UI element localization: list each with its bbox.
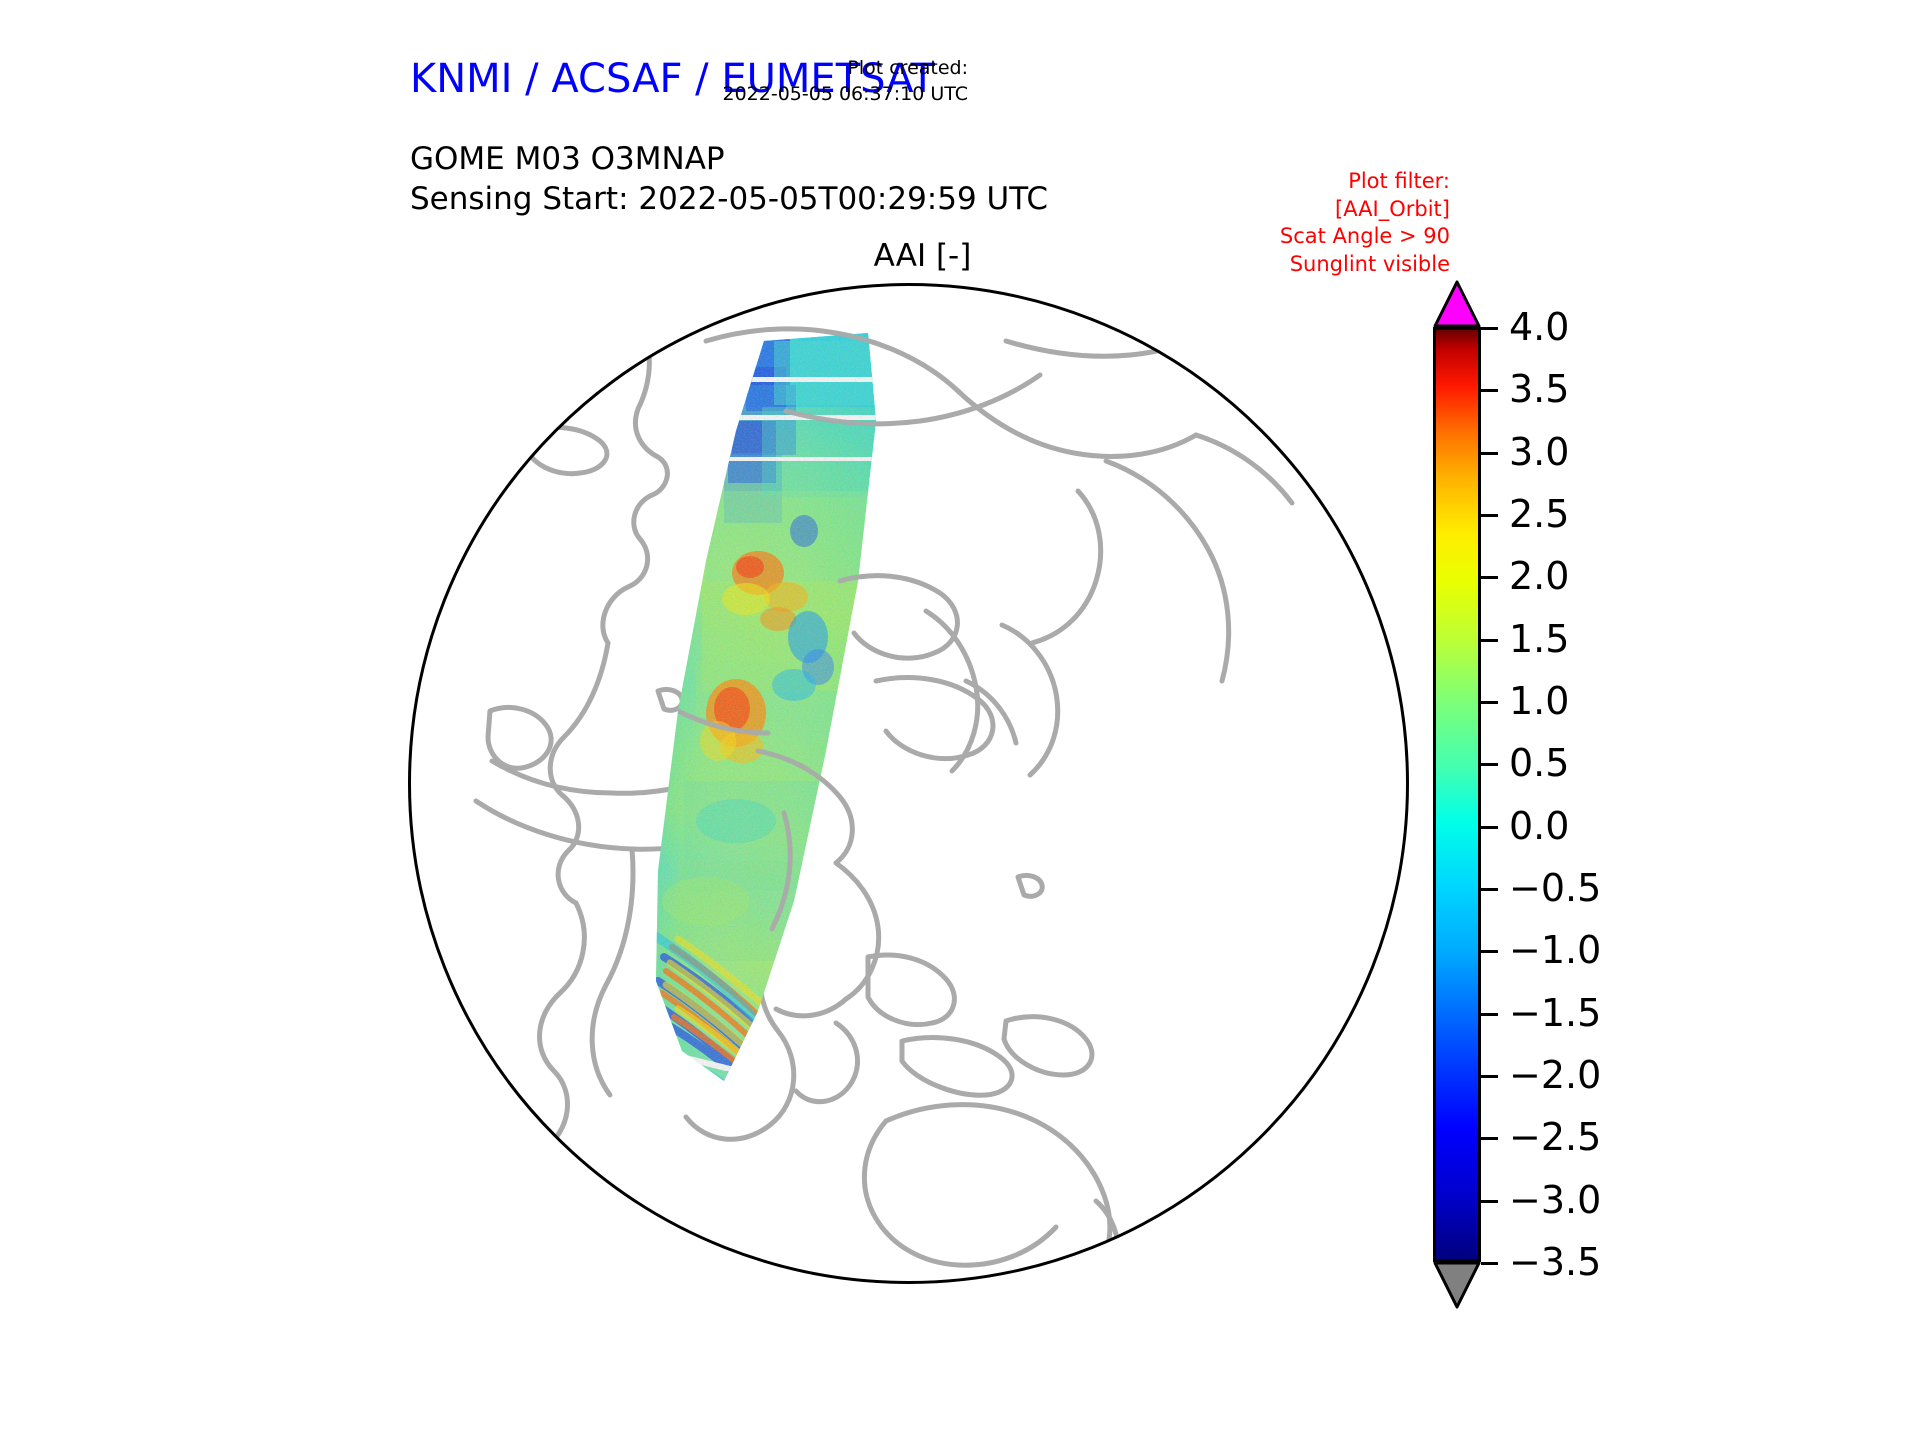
globe-svg xyxy=(406,281,1411,1286)
plot-canvas: KNMI / ACSAF / EUMETSAT Plot created: 20… xyxy=(0,0,1920,1440)
sensing-start: Sensing Start: 2022-05-05T00:29:59 UTC xyxy=(410,180,1048,220)
colorbar-tick-label: 3.5 xyxy=(1509,370,1569,408)
colorbar-tick-mark xyxy=(1481,452,1498,455)
colorbar-tick-label: 1.0 xyxy=(1509,682,1569,720)
colorbar-tick-label: −0.5 xyxy=(1509,869,1601,907)
plot-filter-sunglint: Sunglint visible xyxy=(1030,251,1450,279)
colorbar-tick-mark xyxy=(1481,389,1498,392)
colorbar-tick-mark xyxy=(1481,950,1498,953)
colorbar-ticks: 4.03.53.02.52.01.51.00.50.0−0.5−1.0−1.5−… xyxy=(1425,280,1855,1295)
colorbar-tick-label: 2.0 xyxy=(1509,557,1569,595)
colorbar-tick-mark xyxy=(1481,1262,1498,1265)
plot-filter-name: [AAI_Orbit] xyxy=(1030,196,1450,224)
colorbar-tick-mark xyxy=(1481,701,1498,704)
colorbar-tick-mark xyxy=(1481,1200,1498,1203)
colorbar-tick-mark xyxy=(1481,888,1498,891)
colorbar-tick-mark xyxy=(1481,576,1498,579)
colorbar-tick-label: −2.0 xyxy=(1509,1056,1601,1094)
quantity-title: AAI [-] xyxy=(0,238,1845,274)
colorbar-tick-label: 1.5 xyxy=(1509,620,1569,658)
colorbar-tick-mark xyxy=(1481,763,1498,766)
colorbar-tick-label: 2.5 xyxy=(1509,495,1569,533)
colorbar-tick-label: 4.0 xyxy=(1509,308,1569,346)
colorbar-tick-mark xyxy=(1481,639,1498,642)
product-info-block: GOME M03 O3MNAP Sensing Start: 2022-05-0… xyxy=(410,140,1048,219)
colorbar-tick-label: −1.0 xyxy=(1509,931,1601,969)
colorbar-tick-label: 0.0 xyxy=(1509,807,1569,845)
globe-map xyxy=(406,281,1411,1286)
colorbar-tick-label: 3.0 xyxy=(1509,433,1569,471)
colorbar-tick-mark xyxy=(1481,1013,1498,1016)
colorbar-tick-mark xyxy=(1481,514,1498,517)
plot-filter-label: Plot filter: xyxy=(1030,168,1450,196)
plot-filter-block: Plot filter: [AAI_Orbit] Scat Angle > 90… xyxy=(1030,168,1450,279)
plot-created-block: Plot created: 2022-05-05 06:37:10 UTC xyxy=(568,56,968,107)
colorbar: 4.03.53.02.52.01.51.00.50.0−0.5−1.0−1.5−… xyxy=(1425,280,1855,1295)
colorbar-tick-label: 0.5 xyxy=(1509,744,1569,782)
plot-created-timestamp: 2022-05-05 06:37:10 UTC xyxy=(568,82,968,108)
colorbar-tick-mark xyxy=(1481,1137,1498,1140)
colorbar-tick-mark xyxy=(1481,1075,1498,1078)
colorbar-tick-mark xyxy=(1481,327,1498,330)
colorbar-tick-label: −3.0 xyxy=(1509,1181,1601,1219)
colorbar-tick-label: −3.5 xyxy=(1509,1243,1601,1281)
plot-created-label: Plot created: xyxy=(568,56,968,82)
product-name: GOME M03 O3MNAP xyxy=(410,140,1048,180)
colorbar-tick-label: −2.5 xyxy=(1509,1118,1601,1156)
plot-filter-scat-angle: Scat Angle > 90 xyxy=(1030,223,1450,251)
colorbar-tick-mark xyxy=(1481,826,1498,829)
colorbar-tick-label: −1.5 xyxy=(1509,994,1601,1032)
